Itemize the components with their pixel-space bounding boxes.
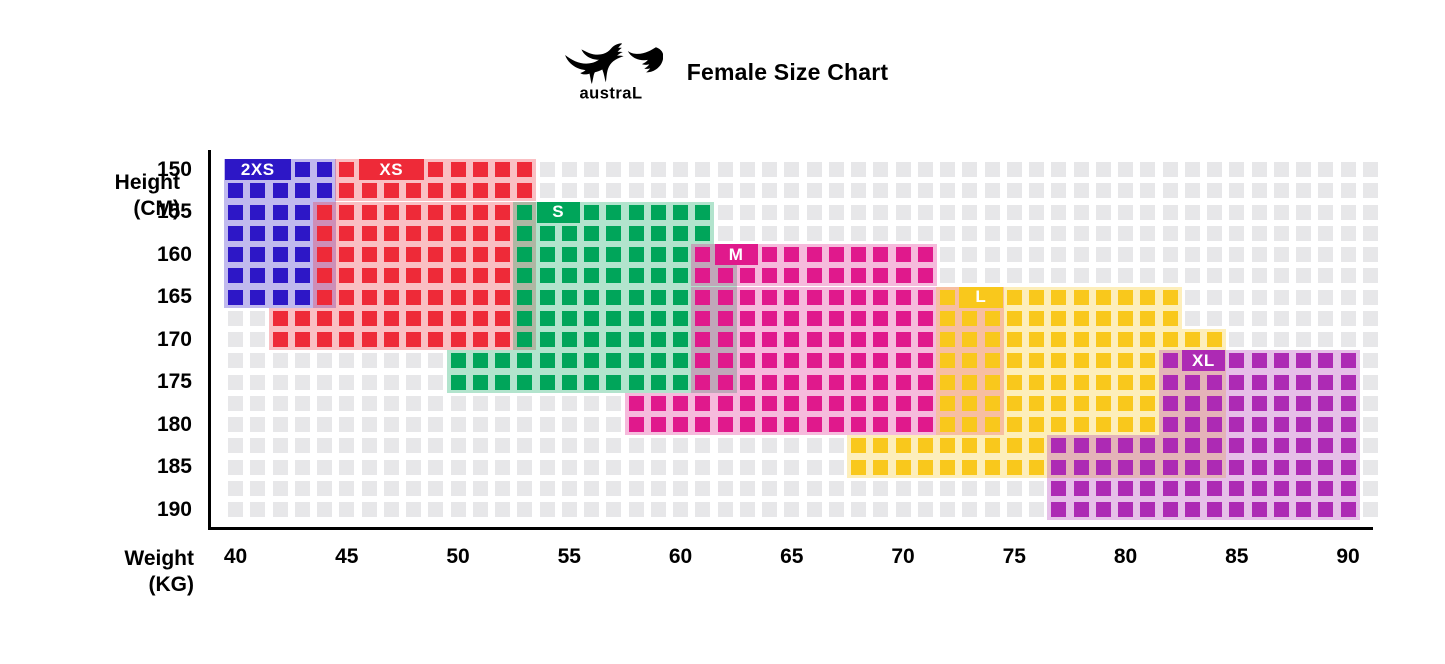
grid-cell-empty — [295, 375, 310, 390]
grid-cell-empty — [1318, 290, 1333, 305]
grid-cell-empty — [918, 502, 933, 517]
grid-cell-xl — [1274, 502, 1289, 517]
grid-cell-xl — [1229, 353, 1244, 368]
grid-cell-l — [1096, 375, 1111, 390]
grid-cell-empty — [428, 460, 443, 475]
grid-cell-m — [873, 417, 888, 432]
grid-cell-l — [1029, 460, 1044, 475]
grid-cell-empty — [1252, 247, 1267, 262]
grid-cell-empty — [829, 183, 844, 198]
grid-cell-empty — [1296, 162, 1311, 177]
grid-cell-xl — [1118, 438, 1133, 453]
grid-cell-xs — [451, 311, 466, 326]
grid-cell-m — [695, 311, 710, 326]
grid-cell-s — [584, 332, 599, 347]
grid-cell-empty — [295, 438, 310, 453]
grid-cell-s — [629, 332, 644, 347]
grid-cell-s — [673, 290, 688, 305]
grid-cell-xl — [1207, 396, 1222, 411]
grid-cell-empty — [517, 396, 532, 411]
grid-cell-xl — [1318, 502, 1333, 517]
grid-cell-empty — [1296, 268, 1311, 283]
grid-cell-empty — [829, 502, 844, 517]
grid-cell-empty — [673, 502, 688, 517]
grid-cell-xl — [1051, 438, 1066, 453]
grid-cell-xl — [1185, 417, 1200, 432]
grid-cell-m — [829, 247, 844, 262]
grid-cell-s — [651, 311, 666, 326]
grid-cell-m — [896, 332, 911, 347]
grid-cell-empty — [339, 438, 354, 453]
grid-cell-m — [784, 396, 799, 411]
grid-cell-xl — [1229, 396, 1244, 411]
grid-cell-l — [1051, 290, 1066, 305]
grid-cell-m — [784, 268, 799, 283]
grid-cell-xl — [1341, 502, 1356, 517]
grid-cell-xl — [1118, 460, 1133, 475]
grid-cell-l — [962, 417, 977, 432]
grid-cell-m — [918, 353, 933, 368]
grid-cell-m — [718, 417, 733, 432]
grid-cell-empty — [317, 417, 332, 432]
grid-cell-m — [807, 268, 822, 283]
grid-cell-m — [896, 396, 911, 411]
grid-cell-xl — [1318, 460, 1333, 475]
grid-cell-xl — [1296, 353, 1311, 368]
grid-cell-2xs — [273, 183, 288, 198]
grid-cell-empty — [228, 375, 243, 390]
grid-cell-m — [829, 311, 844, 326]
grid-cell-empty — [1363, 396, 1378, 411]
grid-cell-empty — [1207, 205, 1222, 220]
grid-cell-m — [807, 247, 822, 262]
size-label-xl[interactable]: XL — [1182, 350, 1225, 371]
grid-cell-empty — [1029, 183, 1044, 198]
grid-cell-l — [918, 438, 933, 453]
grid-cell-empty — [428, 502, 443, 517]
grid-cell-l — [1118, 417, 1133, 432]
grid-cell-xl — [1185, 375, 1200, 390]
grid-cell-empty — [1252, 268, 1267, 283]
grid-cell-empty — [829, 460, 844, 475]
grid-cell-l — [1029, 438, 1044, 453]
grid-cell-empty — [962, 162, 977, 177]
grid-cell-empty — [1252, 226, 1267, 241]
grid-cell-empty — [562, 162, 577, 177]
grid-cell-xl — [1229, 481, 1244, 496]
grid-cell-xs — [495, 183, 510, 198]
grid-cell-empty — [250, 332, 265, 347]
grid-cell-xs — [406, 183, 421, 198]
grid-cell-empty — [1185, 205, 1200, 220]
grid-cell-empty — [1318, 332, 1333, 347]
grid-cell-empty — [317, 375, 332, 390]
grid-cell-xs — [384, 268, 399, 283]
grid-cell-s — [517, 268, 532, 283]
grid-cell-m — [896, 353, 911, 368]
grid-cell-empty — [985, 162, 1000, 177]
grid-cell-empty — [962, 226, 977, 241]
grid-cell-s — [540, 290, 555, 305]
grid-cell-empty — [1140, 183, 1155, 198]
grid-cell-m — [873, 375, 888, 390]
grid-cell-xs — [317, 332, 332, 347]
grid-cell-xl — [1341, 396, 1356, 411]
grid-cell-empty — [1252, 162, 1267, 177]
grid-cell-l — [985, 332, 1000, 347]
grid-cell-empty — [1318, 205, 1333, 220]
grid-cell-l — [940, 460, 955, 475]
grid-cell-s — [584, 268, 599, 283]
grid-cell-m — [918, 247, 933, 262]
grid-cell-m — [629, 417, 644, 432]
grid-cell-empty — [562, 417, 577, 432]
grid-cell-empty — [228, 502, 243, 517]
grid-cell-s — [584, 353, 599, 368]
grid-cell-xl — [1296, 502, 1311, 517]
grid-cell-xl — [1318, 417, 1333, 432]
grid-cell-empty — [1163, 162, 1178, 177]
grid-cell-empty — [629, 460, 644, 475]
grid-cell-s — [673, 311, 688, 326]
grid-cell-empty — [606, 396, 621, 411]
grid-cell-empty — [1363, 268, 1378, 283]
grid-cell-m — [807, 417, 822, 432]
grid-cell-xs — [384, 226, 399, 241]
grid-cell-empty — [807, 438, 822, 453]
grid-cell-empty — [228, 396, 243, 411]
grid-cell-s — [473, 353, 488, 368]
grid-cell-empty — [829, 205, 844, 220]
grid-cell-empty — [651, 460, 666, 475]
grid-cell-s — [673, 332, 688, 347]
grid-cell-empty — [584, 438, 599, 453]
grid-cell-xl — [1274, 481, 1289, 496]
grid-cell-empty — [606, 417, 621, 432]
grid-cell-empty — [273, 417, 288, 432]
grid-cell-empty — [962, 481, 977, 496]
grid-cell-s — [606, 375, 621, 390]
grid-cell-s — [673, 226, 688, 241]
grid-cell-empty — [517, 417, 532, 432]
grid-cell-m — [918, 311, 933, 326]
size-label-xs[interactable]: XS — [359, 159, 425, 180]
x-tick-95: 95 — [1429, 546, 1445, 568]
grid-cell-s — [629, 311, 644, 326]
grid-cell-xs — [362, 226, 377, 241]
grid-cell-xl — [1229, 438, 1244, 453]
grid-cell-empty — [695, 460, 710, 475]
grid-cell-l — [1140, 353, 1155, 368]
grid-cell-s — [451, 353, 466, 368]
grid-cell-l — [940, 417, 955, 432]
grid-cell-xl — [1229, 375, 1244, 390]
grid-cell-empty — [228, 353, 243, 368]
grid-cell-empty — [1185, 311, 1200, 326]
grid-cell-s — [629, 226, 644, 241]
grid-cell-empty — [473, 460, 488, 475]
grid-cell-s — [606, 290, 621, 305]
grid-cell-s — [584, 290, 599, 305]
grid-cell-s — [584, 375, 599, 390]
grid-cell-empty — [273, 481, 288, 496]
grid-cell-m — [918, 396, 933, 411]
grid-cell-m — [873, 396, 888, 411]
grid-cell-l — [1163, 311, 1178, 326]
grid-cell-empty — [273, 375, 288, 390]
x-tick-50: 50 — [428, 546, 488, 568]
grid-cell-xs — [339, 247, 354, 262]
grid-cell-empty — [339, 417, 354, 432]
grid-cell-2xs — [317, 162, 332, 177]
grid-cell-empty — [606, 481, 621, 496]
grid-cell-xl — [1163, 481, 1178, 496]
grid-cell-xs — [406, 226, 421, 241]
grid-cell-xl — [1140, 481, 1155, 496]
grid-cell-empty — [629, 481, 644, 496]
grid-cell-m — [695, 247, 710, 262]
grid-cell-l — [1051, 353, 1066, 368]
grid-cell-empty — [1363, 438, 1378, 453]
grid-cell-empty — [873, 205, 888, 220]
grid-cell-xs — [428, 268, 443, 283]
grid-cell-empty — [1051, 226, 1066, 241]
grid-cell-empty — [428, 438, 443, 453]
grid-cell-xl — [1163, 396, 1178, 411]
grid-cell-empty — [829, 438, 844, 453]
grid-cell-empty — [1074, 183, 1089, 198]
grid-cell-empty — [273, 460, 288, 475]
grid-cell-xs — [451, 268, 466, 283]
grid-cell-s — [629, 205, 644, 220]
grid-cell-xs — [495, 268, 510, 283]
grid-cell-xs — [473, 332, 488, 347]
grid-cell-m — [740, 417, 755, 432]
grid-cell-l — [1029, 311, 1044, 326]
grid-cell-m — [718, 375, 733, 390]
grid-cell-xs — [273, 332, 288, 347]
grid-cell-empty — [740, 183, 755, 198]
grid-cell-l — [1051, 332, 1066, 347]
grid-cell-empty — [985, 183, 1000, 198]
grid-cell-m — [851, 417, 866, 432]
grid-cell-2xs — [295, 247, 310, 262]
grid-cell-empty — [918, 205, 933, 220]
grid-cell-l — [1118, 375, 1133, 390]
grid-cell-empty — [1252, 183, 1267, 198]
size-label-s[interactable]: S — [537, 202, 580, 223]
grid-cell-empty — [273, 502, 288, 517]
grid-cell-empty — [873, 226, 888, 241]
grid-cell-xl — [1341, 460, 1356, 475]
grid-cell-m — [829, 353, 844, 368]
grid-cell-empty — [428, 396, 443, 411]
grid-cell-empty — [1207, 268, 1222, 283]
grid-cell-s — [651, 353, 666, 368]
grid-cell-m — [918, 290, 933, 305]
grid-cell-m — [851, 290, 866, 305]
size-label-2xs[interactable]: 2XS — [225, 159, 291, 180]
grid-cell-empty — [495, 481, 510, 496]
grid-cell-xl — [1229, 460, 1244, 475]
grid-cell-empty — [673, 481, 688, 496]
grid-cell-empty — [406, 460, 421, 475]
grid-cell-2xs — [295, 268, 310, 283]
grid-cell-2xs — [273, 247, 288, 262]
grid-cell-empty — [784, 502, 799, 517]
grid-cell-empty — [295, 396, 310, 411]
grid-cell-empty — [273, 396, 288, 411]
grid-cell-m — [896, 290, 911, 305]
grid-cell-s — [562, 375, 577, 390]
grid-cell-m — [695, 417, 710, 432]
grid-cell-empty — [718, 502, 733, 517]
grid-cell-empty — [1118, 268, 1133, 283]
grid-cell-empty — [1207, 311, 1222, 326]
grid-cell-m — [762, 375, 777, 390]
grid-cell-empty — [362, 375, 377, 390]
grid-cell-empty — [1051, 183, 1066, 198]
grid-cell-empty — [1163, 247, 1178, 262]
grid-cell-xl — [1318, 396, 1333, 411]
grid-cell-empty — [362, 438, 377, 453]
grid-cell-empty — [829, 226, 844, 241]
grid-cell-xl — [1341, 417, 1356, 432]
grid-cell-xs — [428, 226, 443, 241]
grid-cell-l — [1207, 332, 1222, 347]
grid-cell-xs — [339, 268, 354, 283]
x-tick-85: 85 — [1207, 546, 1267, 568]
grid-cell-s — [606, 205, 621, 220]
grid-cell-empty — [1007, 183, 1022, 198]
grid-cell-empty — [940, 205, 955, 220]
grid-cell-m — [807, 332, 822, 347]
grid-cell-empty — [873, 481, 888, 496]
grid-cell-xl — [1274, 417, 1289, 432]
grid-cell-l — [1140, 332, 1155, 347]
grid-cell-empty — [740, 438, 755, 453]
grid-cell-empty — [584, 183, 599, 198]
grid-cell-s — [562, 268, 577, 283]
grid-cell-m — [896, 311, 911, 326]
grid-cell-xl — [1341, 481, 1356, 496]
grid-cell-empty — [1051, 205, 1066, 220]
grid-cell-empty — [1252, 205, 1267, 220]
grid-cell-m — [918, 268, 933, 283]
grid-cell-xl — [1096, 481, 1111, 496]
grid-cell-m — [829, 268, 844, 283]
grid-cell-empty — [1363, 375, 1378, 390]
grid-cell-empty — [540, 438, 555, 453]
grid-cell-empty — [1140, 268, 1155, 283]
grid-cell-empty — [629, 438, 644, 453]
grid-cell-empty — [962, 502, 977, 517]
grid-cell-empty — [250, 375, 265, 390]
grid-cell-l — [896, 460, 911, 475]
grid-cell-l — [962, 460, 977, 475]
grid-cell-m — [762, 332, 777, 347]
grid-cell-m — [762, 417, 777, 432]
grid-cell-s — [651, 205, 666, 220]
grid-cell-xl — [1074, 481, 1089, 496]
grid-cell-s — [517, 247, 532, 262]
grid-cell-s — [651, 226, 666, 241]
grid-cell-empty — [384, 375, 399, 390]
grid-cell-empty — [651, 162, 666, 177]
grid-cell-empty — [406, 502, 421, 517]
grid-cell-empty — [1341, 162, 1356, 177]
grid-cell-empty — [250, 460, 265, 475]
grid-cell-xs — [362, 268, 377, 283]
grid-cell-empty — [228, 332, 243, 347]
grid-cell-m — [807, 290, 822, 305]
grid-cell-xs — [473, 247, 488, 262]
grid-cell-m — [762, 268, 777, 283]
grid-cell-empty — [1318, 162, 1333, 177]
grid-cell-xl — [1207, 502, 1222, 517]
grid-cell-l — [1029, 332, 1044, 347]
grid-cell-2xs — [317, 183, 332, 198]
grid-cell-m — [873, 353, 888, 368]
grid-cell-l — [1051, 311, 1066, 326]
grid-cell-empty — [629, 162, 644, 177]
grid-cell-xl — [1074, 502, 1089, 517]
y-tick-190: 190 — [130, 499, 192, 520]
grid-cell-l — [851, 438, 866, 453]
grid-cell-empty — [406, 375, 421, 390]
grid-cell-empty — [1185, 290, 1200, 305]
grid-cell-xl — [1207, 460, 1222, 475]
svg-text:austraL: austraL — [579, 85, 642, 103]
grid-cell-xl — [1140, 438, 1155, 453]
grid-cell-empty — [807, 481, 822, 496]
size-label-m[interactable]: M — [715, 244, 758, 265]
grid-cell-empty — [1296, 311, 1311, 326]
grid-cell-2xs — [295, 205, 310, 220]
grid-cell-xl — [1163, 417, 1178, 432]
grid-cell-2xs — [273, 226, 288, 241]
grid-cell-empty — [807, 183, 822, 198]
grid-cell-xs — [339, 290, 354, 305]
grid-cell-xl — [1118, 481, 1133, 496]
grid-cell-s — [673, 268, 688, 283]
grid-cell-empty — [1296, 205, 1311, 220]
grid-cell-empty — [1163, 183, 1178, 198]
size-label-l[interactable]: L — [959, 287, 1002, 308]
grid-cell-s — [651, 375, 666, 390]
grid-cell-s — [517, 332, 532, 347]
grid-cell-empty — [651, 183, 666, 198]
grid-cell-m — [851, 311, 866, 326]
grid-cell-xl — [1274, 353, 1289, 368]
grid-cell-empty — [918, 162, 933, 177]
grid-cell-empty — [495, 396, 510, 411]
x-axis-title: Weight (KG) — [84, 546, 194, 598]
grid-cell-empty — [1341, 290, 1356, 305]
grid-cell-2xs — [250, 226, 265, 241]
grid-cell-empty — [495, 438, 510, 453]
size-chart-plot: 2XSXSSMLXL — [208, 150, 1373, 530]
grid-cell-2xs — [295, 183, 310, 198]
grid-cell-empty — [985, 268, 1000, 283]
grid-cell-empty — [1363, 353, 1378, 368]
y-tick-185: 185 — [130, 456, 192, 477]
grid-cell-empty — [985, 481, 1000, 496]
grid-cell-empty — [940, 502, 955, 517]
grid-cell-l — [985, 353, 1000, 368]
grid-cell-xl — [1274, 438, 1289, 453]
grid-cell-empty — [540, 183, 555, 198]
